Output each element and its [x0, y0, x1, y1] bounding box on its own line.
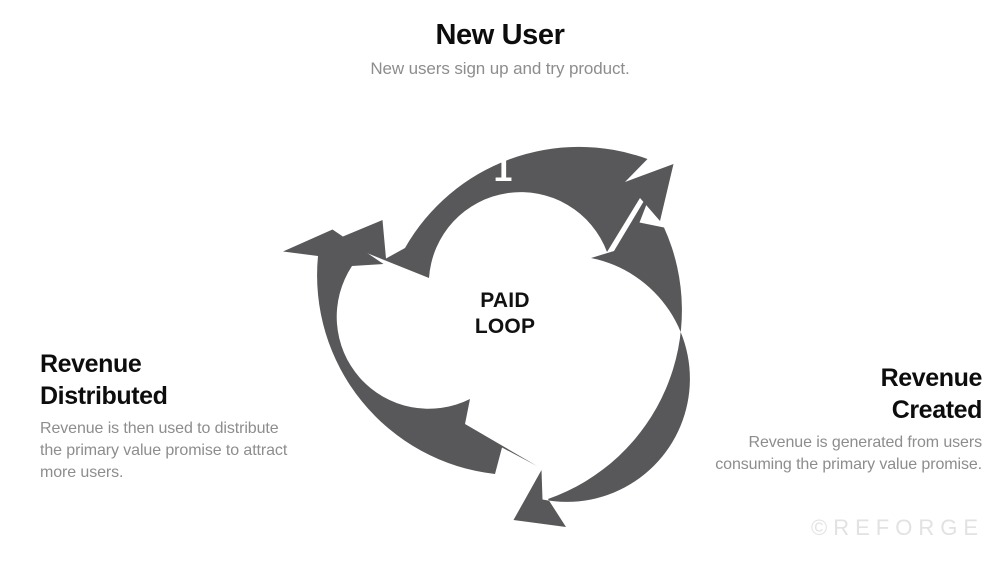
cycle-ring-svg: 1 2 3: [254, 62, 746, 554]
segment-number-2: 2: [619, 351, 638, 389]
segment-number-1: 1: [494, 151, 513, 189]
cycle-ring-diagram: 1 2 3 PAID LOOP: [254, 62, 746, 554]
new-user-title: New User: [0, 18, 1000, 52]
reforge-watermark: ©REFORGE: [811, 515, 984, 541]
diagram-canvas: New User New users sign up and try produ…: [0, 0, 1000, 563]
segment-number-3: 3: [365, 351, 384, 389]
